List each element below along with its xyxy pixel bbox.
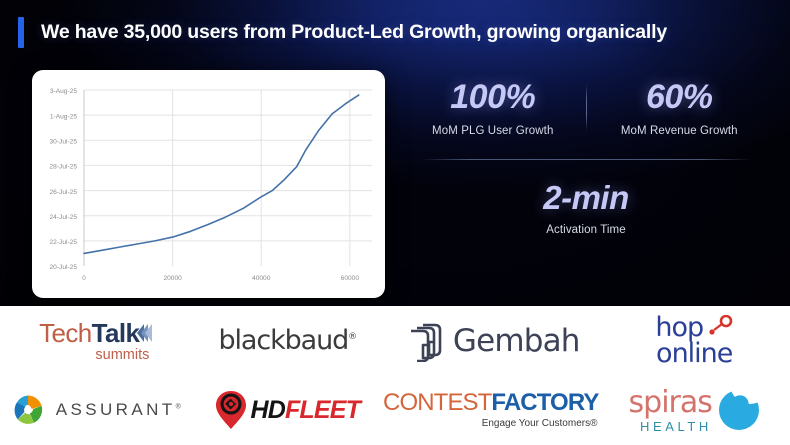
customer-logo-band: Tech Talk summits blackbaud® Gemb bbox=[0, 306, 790, 445]
svg-text:22-Jul-25: 22-Jul-25 bbox=[50, 239, 78, 246]
stat-revenue-growth: 60% MoM Revenue Growth bbox=[587, 80, 773, 137]
logo-techtalk-summits: Tech Talk summits bbox=[0, 306, 192, 376]
map-pin-aperture-icon bbox=[214, 389, 248, 431]
contestfactory-factory-text: FACTORY bbox=[491, 391, 598, 415]
stat-value: 2-min bbox=[400, 181, 772, 216]
stats-panel: 100% MoM PLG User Growth 60% MoM Revenue… bbox=[400, 80, 772, 236]
stat-label: MoM Revenue Growth bbox=[587, 125, 773, 137]
logo-contest-factory: CONTEST FACTORY Engage Your Customers® bbox=[383, 376, 598, 445]
spiras-health-text: HEALTH bbox=[640, 420, 712, 433]
hdfleet-hd-text: HD bbox=[250, 396, 285, 425]
network-node-icon bbox=[703, 315, 733, 339]
svg-text:20000: 20000 bbox=[163, 275, 182, 282]
svg-text:20-Jul-25: 20-Jul-25 bbox=[50, 264, 78, 271]
blackbaud-text: blackbaud bbox=[218, 325, 348, 356]
stat-label: MoM PLG User Growth bbox=[400, 125, 586, 137]
svg-text:0: 0 bbox=[82, 275, 86, 282]
logo-blackbaud: blackbaud® bbox=[192, 306, 384, 376]
logo-hdfleet: HD FLEET bbox=[192, 376, 384, 445]
title-text: We have 35,000 users from Product-Led Gr… bbox=[41, 21, 667, 44]
contestfactory-contest-text: CONTEST bbox=[383, 391, 491, 415]
stat-activation-time: 2-min Activation Time bbox=[400, 181, 772, 237]
spiras-word-text: spiras bbox=[629, 388, 712, 418]
techtalk-talk-text: Talk bbox=[92, 320, 140, 346]
stat-value: 100% bbox=[400, 80, 586, 116]
assurant-text: ASSURANT bbox=[56, 400, 176, 419]
stat-plg-user-growth: 100% MoM PLG User Growth bbox=[400, 80, 586, 137]
stats-primary-row: 100% MoM PLG User Growth 60% MoM Revenue… bbox=[400, 80, 772, 137]
chevron-left-icon bbox=[140, 324, 152, 342]
title-accent-bar bbox=[18, 17, 24, 48]
svg-text:24-Jul-25: 24-Jul-25 bbox=[50, 214, 78, 221]
logo-gembah: Gembah bbox=[383, 306, 598, 376]
gembah-text: Gembah bbox=[453, 323, 580, 359]
growth-line-chart: 20-Jul-2522-Jul-2524-Jul-2526-Jul-2528-J… bbox=[32, 70, 385, 298]
svg-text:40000: 40000 bbox=[252, 275, 271, 282]
logo-hop-online: hop online bbox=[598, 306, 790, 376]
spiras-crescent-icon bbox=[718, 389, 760, 431]
assurant-pinwheel-icon bbox=[11, 393, 45, 427]
contestfactory-tagline: Engage Your Customers® bbox=[482, 419, 598, 429]
slide: We have 35,000 users from Product-Led Gr… bbox=[0, 0, 790, 445]
stats-horizontal-divider bbox=[420, 159, 752, 160]
hop-online-line1: hop bbox=[655, 315, 703, 341]
stat-label: Activation Time bbox=[400, 224, 772, 236]
chart-card: 20-Jul-2522-Jul-2524-Jul-2526-Jul-2528-J… bbox=[32, 70, 385, 298]
logo-assurant: ASSURANT® bbox=[0, 376, 192, 445]
svg-text:60000: 60000 bbox=[341, 275, 360, 282]
svg-text:26-Jul-25: 26-Jul-25 bbox=[50, 189, 78, 196]
registered-mark-icon: ® bbox=[176, 404, 181, 411]
registered-mark-icon: ® bbox=[348, 332, 356, 342]
techtalk-sub-text: summits bbox=[95, 348, 149, 363]
logo-spiras-health: spiras HEALTH bbox=[598, 376, 790, 445]
svg-text:1-Aug-25: 1-Aug-25 bbox=[50, 113, 77, 120]
svg-text:28-Jul-25: 28-Jul-25 bbox=[50, 164, 78, 171]
hdfleet-fleet-text: FLEET bbox=[285, 396, 360, 425]
techtalk-tech-text: Tech bbox=[39, 320, 92, 346]
page-title: We have 35,000 users from Product-Led Gr… bbox=[18, 17, 667, 48]
svg-text:3-Aug-25: 3-Aug-25 bbox=[50, 88, 77, 95]
svg-text:30-Jul-25: 30-Jul-25 bbox=[50, 138, 78, 145]
stat-value: 60% bbox=[587, 80, 773, 116]
gembah-mark-icon bbox=[402, 320, 444, 362]
hop-online-line2: online bbox=[656, 341, 732, 367]
